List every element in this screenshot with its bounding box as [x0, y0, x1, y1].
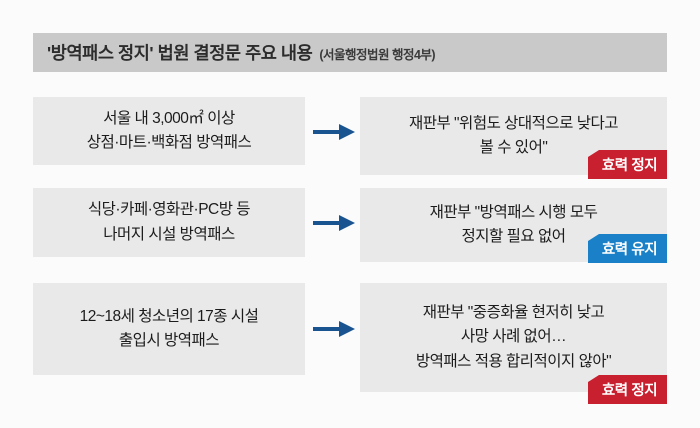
row-1-right-line-1: 재판부 "위험도 상대적으로 낮다고 — [409, 112, 618, 136]
row-2-status-badge: 효력 유지 — [588, 234, 667, 263]
row-3-left-line-1: 12~18세 청소년의 17종 시설 — [80, 305, 259, 329]
row-3-status-badge: 효력 정지 — [588, 375, 667, 404]
row-1-left-line-2: 상점·마트·백화점 방역패스 — [87, 131, 252, 155]
row-2-right-line-2: 정지할 필요 없어 — [462, 225, 566, 249]
row-3-right-line-2: 사망 사례 없어… — [461, 325, 566, 349]
row-3-right-line-1: 재판부 "중증화율 현저히 낮고 — [423, 301, 605, 325]
page-subtitle: (서울행정법원 행정4부) — [319, 44, 435, 63]
row-1-left-line-1: 서울 내 3,000㎡ 이상 — [103, 107, 235, 131]
row-3-right-line-3: 방역패스 적용 합리적이지 않아" — [416, 350, 611, 374]
row-2-left-panel: 식당·카페·영화관·PC방 등 나머지 시설 방역패스 — [33, 188, 305, 257]
row-3-left-panel: 12~18세 청소년의 17종 시설 출입시 방역패스 — [33, 283, 305, 375]
infographic-root: '방역패스 정지' 법원 결정문 주요 내용 (서울행정법원 행정4부) 서울 … — [0, 0, 700, 428]
right-arrow-icon — [313, 320, 355, 338]
row-2-right-line-1: 재판부 "방역패스 시행 모두 — [430, 201, 598, 225]
row-1-status-badge: 효력 정지 — [588, 150, 667, 179]
row-3-left-line-2: 출입시 방역패스 — [119, 329, 219, 353]
row-1-left-panel: 서울 내 3,000㎡ 이상 상점·마트·백화점 방역패스 — [33, 97, 305, 165]
right-arrow-icon — [313, 214, 355, 232]
header-band: '방역패스 정지' 법원 결정문 주요 내용 (서울행정법원 행정4부) — [33, 33, 667, 72]
row-2-left-line-2: 나머지 시설 방역패스 — [103, 223, 234, 247]
page-title: '방역패스 정지' 법원 결정문 주요 내용 — [47, 40, 312, 65]
row-1-right-line-2: 볼 수 있어" — [480, 136, 548, 160]
row-2-left-line-1: 식당·카페·영화관·PC방 등 — [88, 198, 250, 222]
right-arrow-icon — [313, 123, 355, 141]
